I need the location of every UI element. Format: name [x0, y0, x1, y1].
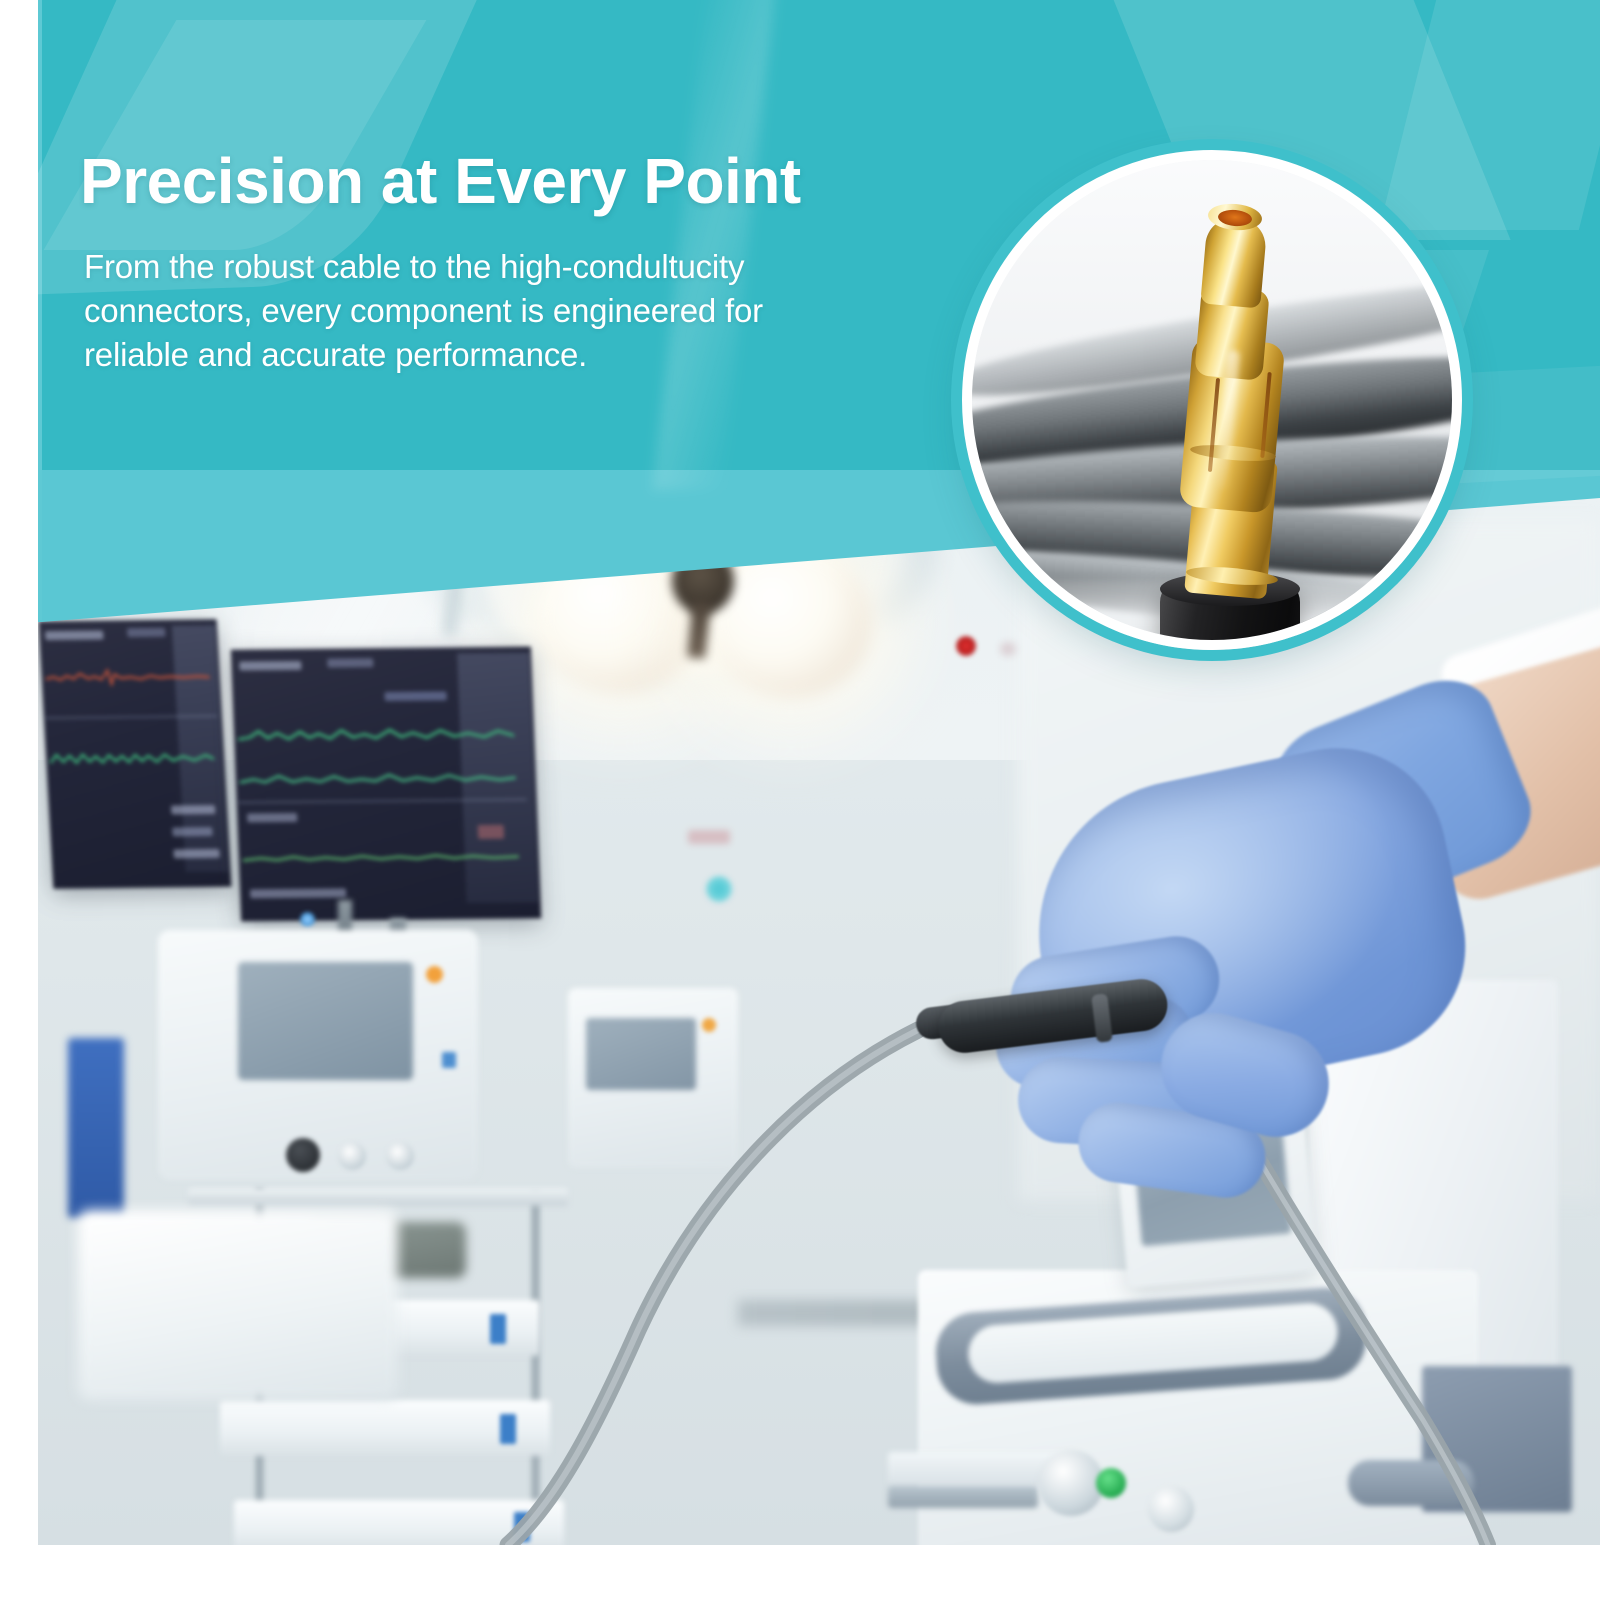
product-detail-circle-inset [962, 150, 1462, 650]
subcopy-block: From the robust cable to the high-condul… [84, 245, 844, 378]
subcopy-line-3: reliable and accurate performance. [84, 333, 844, 377]
frame-border-bottom [0, 1545, 1600, 1600]
poster-canvas: Precision at Every Point From the robust… [0, 0, 1600, 1600]
subcopy-line-2: connectors, every component is engineere… [84, 289, 844, 333]
page-title: Precision at Every Point [80, 148, 801, 215]
subcopy-line-1: From the robust cable to the high-condul… [84, 245, 844, 289]
frame-border-left [0, 0, 38, 1600]
